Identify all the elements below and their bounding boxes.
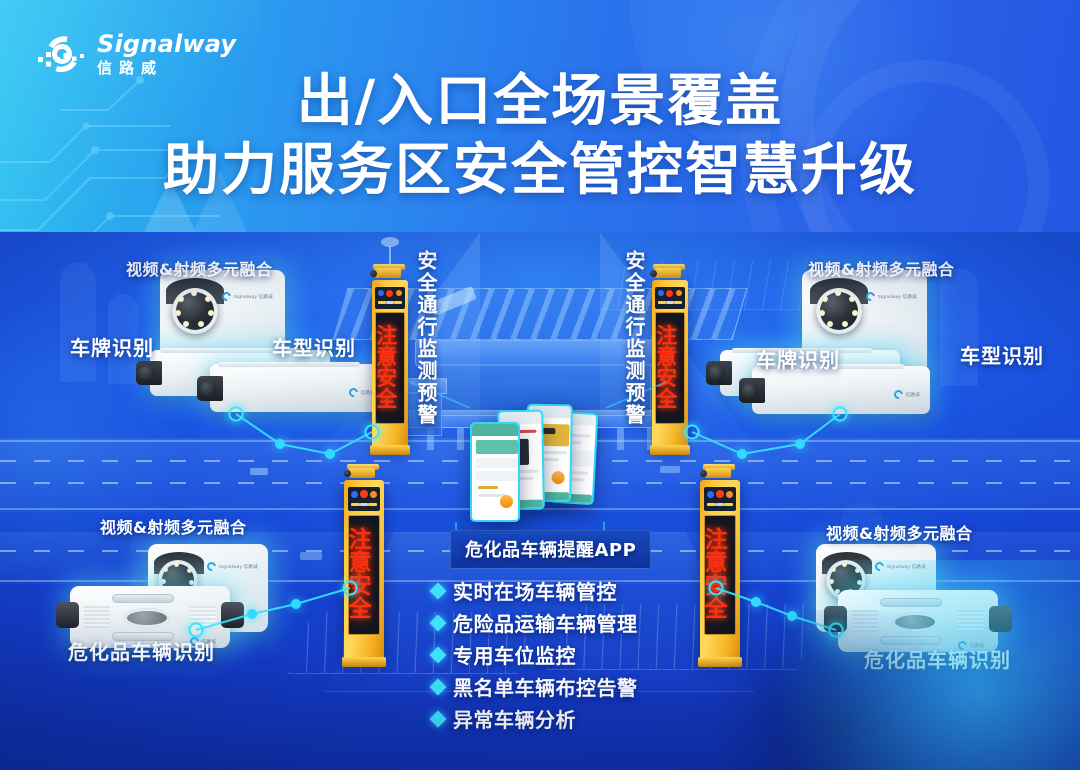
diamond-bullet-icon	[430, 582, 447, 599]
feature-label: 专用车位监控	[453, 640, 576, 669]
pole-indicator-lights	[655, 287, 685, 309]
reader-antenna-knob	[56, 602, 79, 628]
pole-screen-char: 注意安全	[349, 529, 380, 621]
pole-led-screen: 注意安全	[348, 515, 381, 635]
scene-illustration: Signalway 信路威 信路威	[0, 232, 1080, 770]
feature-label: 黑名单车辆布控告警	[453, 672, 638, 701]
diamond-bullet-icon	[430, 646, 447, 663]
pole-camera-icon	[653, 264, 687, 279]
title-line-1: 出/入口全场景覆盖	[0, 72, 1080, 132]
device-brand-mark-icon: Signalway 信路威	[207, 562, 258, 571]
label-vehicle-type-top-left: 车型识别	[272, 332, 356, 361]
reader-center-lens	[124, 608, 170, 628]
phone-mockup-1[interactable]	[470, 422, 520, 522]
reader-slot	[112, 594, 174, 603]
label-vehicle-type-top-right: 车型识别	[960, 340, 1044, 369]
feature-label: 危险品运输车辆管理	[453, 608, 638, 637]
label-plate-recognition-top-right: 车牌识别	[756, 344, 840, 373]
pole-led-screen: 注意安全	[375, 312, 405, 424]
label-fusion-bottom-left: 视频&射频多元融合	[100, 514, 246, 538]
pole-base	[342, 657, 387, 668]
vehicle-icon	[300, 552, 322, 560]
reader-vent	[84, 606, 110, 628]
pole-base	[650, 445, 690, 455]
label-plate-recognition-top-left: 车牌识别	[70, 332, 154, 361]
dome-camera-lens-icon	[172, 288, 218, 334]
diamond-bullet-icon	[430, 614, 447, 631]
label-safe-passage-left: 安全通行监测预警	[412, 250, 441, 440]
warning-pole-lower-left[interactable]: 注意安全	[344, 480, 384, 662]
list-item: 危险品运输车辆管理	[432, 608, 638, 637]
list-item: 专用车位监控	[432, 640, 638, 669]
vehicle-icon	[250, 468, 268, 475]
pole-camera-icon	[347, 464, 381, 479]
scene-bottom-right-cyan-glow	[740, 560, 1080, 770]
app-phone-mockups	[470, 410, 600, 520]
label-fusion-top-left: 视频&射频多元融合	[126, 256, 272, 280]
dome-camera-lens-icon	[816, 288, 862, 334]
label-fusion-bottom-right: 视频&射频多元融合	[826, 520, 972, 544]
reader-vent	[190, 606, 216, 628]
label-hazmat-recognition-bottom-left: 危化品车辆识别	[68, 636, 215, 665]
anpr-bullet-camera-front[interactable]: 信路威	[752, 366, 930, 414]
label-fusion-top-right: 视频&射频多元融合	[808, 256, 954, 280]
pole-base	[370, 445, 410, 455]
device-brand-mark-icon: Signalway 信路威	[222, 292, 273, 301]
device-brand-mark-icon: Signalway 信路威	[866, 292, 917, 301]
anpr-bullet-camera-front[interactable]: 信路威	[210, 364, 385, 412]
pole-screen-char: 注意安全	[376, 326, 404, 410]
background-building-silhouette	[60, 262, 96, 382]
feature-label: 异常车辆分析	[453, 704, 576, 733]
list-item: 异常车辆分析	[432, 704, 638, 733]
header-band: Signalway 信路威 出/入口全场景覆盖 助力服务区安全管控智慧升级	[0, 0, 1080, 238]
brand-logo[interactable]: Signalway 信路威	[36, 28, 236, 80]
brand-name-en: Signalway	[97, 32, 236, 56]
pole-indicator-lights	[704, 487, 737, 511]
pole-camera-icon	[703, 464, 737, 479]
title-line-2: 助力服务区安全管控智慧升级	[0, 138, 1080, 204]
diamond-bullet-icon	[430, 710, 447, 727]
label-safe-passage-right: 安全通行监测预警	[620, 250, 649, 440]
poster-title: 出/入口全场景覆盖 助力服务区安全管控智慧升级	[0, 72, 1080, 205]
diamond-bullet-icon	[430, 678, 447, 695]
device-brand-mark-icon: 信路威	[894, 390, 920, 399]
app-badge: 危化品车辆提醒APP	[450, 530, 651, 569]
pole-camera-icon	[373, 264, 407, 279]
reader-antenna-knob	[221, 602, 244, 628]
pole-screen-char: 注意安全	[705, 529, 736, 621]
brand-name-cn: 信路威	[97, 61, 236, 76]
list-item: 实时在场车辆管控	[432, 576, 638, 605]
signalway-swirl-logo-icon	[36, 28, 88, 80]
vehicle-icon	[660, 466, 680, 473]
pole-indicator-lights	[348, 487, 381, 511]
feature-label: 实时在场车辆管控	[453, 576, 617, 605]
feature-list: 实时在场车辆管控 危险品运输车辆管理 专用车位监控 黑名单车辆布控告警 异常车辆…	[432, 576, 638, 733]
pole-led-screen: 注意安全	[655, 312, 685, 424]
pole-screen-char: 注意安全	[656, 326, 684, 410]
infographic-poster: Signalway 信路威 出/入口全场景覆盖 助力服务区安全管控智慧升级	[0, 0, 1080, 770]
pole-indicator-lights	[375, 287, 405, 309]
warning-pole-upper-right[interactable]: 注意安全	[652, 280, 688, 450]
warning-pole-upper-left[interactable]: 注意安全	[372, 280, 408, 450]
list-item: 黑名单车辆布控告警	[432, 672, 638, 701]
